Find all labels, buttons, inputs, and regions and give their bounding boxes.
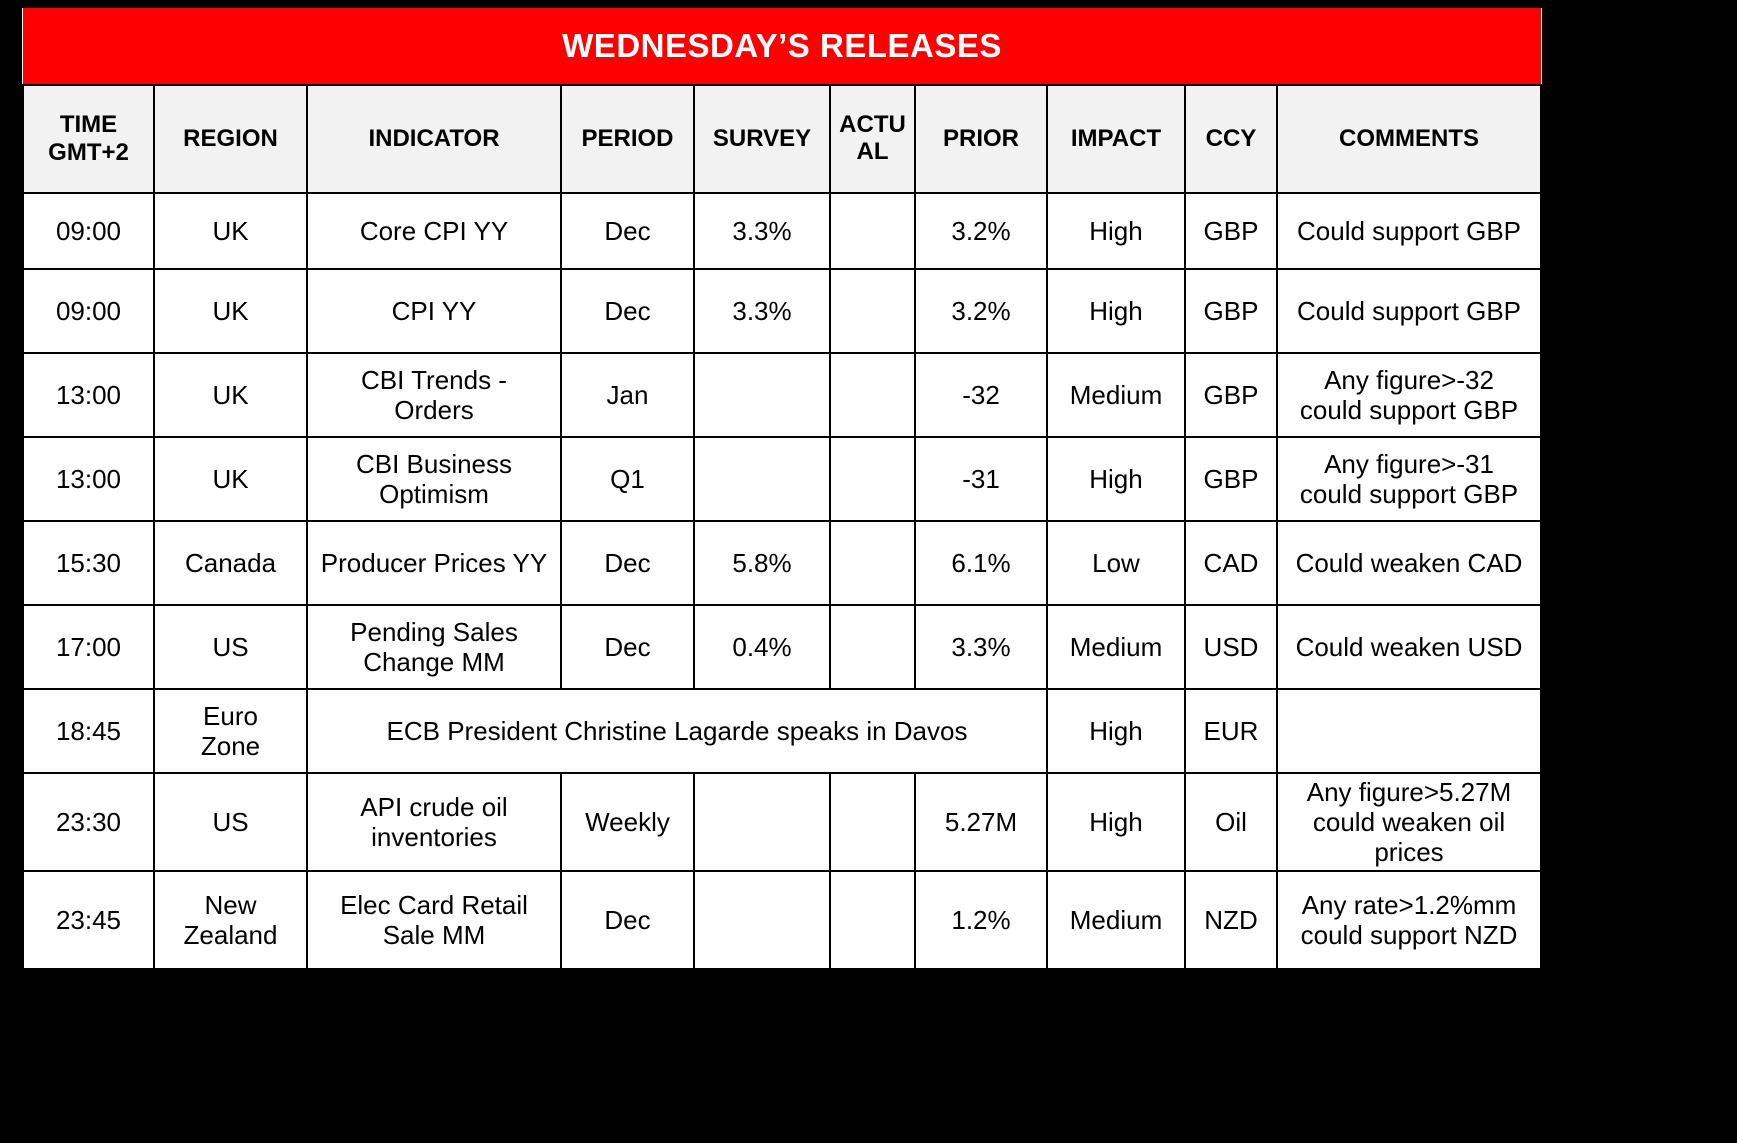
- cell-indicator: Pending Sales Change MM: [307, 605, 561, 689]
- cell-text-comments: Could weaken CAD: [1282, 548, 1536, 578]
- cell-text-ccy: USD: [1190, 632, 1272, 662]
- cell-text-survey: 5.8%: [699, 548, 825, 578]
- column-header-actual: ACTUAL: [830, 85, 915, 193]
- cell-text-region: UK: [159, 216, 302, 246]
- cell-prior: 1.2%: [915, 871, 1047, 969]
- cell-time: 17:00: [23, 605, 154, 689]
- cell-time: 15:30: [23, 521, 154, 605]
- cell-text-period: Dec: [566, 548, 689, 578]
- cell-period: Dec: [561, 605, 694, 689]
- cell-text-prior: 3.3%: [920, 632, 1042, 662]
- cell-text-comments: Any figure>-32 could support GBP: [1282, 365, 1536, 425]
- cell-impact: High: [1047, 689, 1185, 773]
- cell-text-period: Weekly: [566, 807, 689, 837]
- cell-region: New Zealand: [154, 871, 307, 969]
- cell-text-ccy: GBP: [1190, 216, 1272, 246]
- cell-text-survey: 0.4%: [699, 632, 825, 662]
- cell-survey: [694, 437, 830, 521]
- cell-text-region: Canada: [159, 548, 302, 578]
- cell-text-impact: High: [1052, 216, 1180, 246]
- cell-text-region: UK: [159, 296, 302, 326]
- cell-text-ccy: EUR: [1190, 716, 1272, 746]
- table-row: 13:00UKCBI Trends - OrdersJan-32MediumGB…: [23, 353, 1541, 437]
- cell-text-comments: Could support GBP: [1282, 296, 1536, 326]
- cell-comments: Could support GBP: [1277, 269, 1541, 353]
- cell-impact: Low: [1047, 521, 1185, 605]
- cell-text-prior: 3.2%: [920, 216, 1042, 246]
- cell-comments: Could support GBP: [1277, 193, 1541, 269]
- cell-text-ccy: GBP: [1190, 380, 1272, 410]
- cell-text-time: 17:00: [28, 632, 149, 662]
- cell-text-region: UK: [159, 464, 302, 494]
- cell-ccy: GBP: [1185, 269, 1277, 353]
- cell-survey: [694, 773, 830, 871]
- cell-text-impact: High: [1052, 464, 1180, 494]
- cell-comments: Any rate>1.2%mm could support NZD: [1277, 871, 1541, 969]
- cell-survey: [694, 871, 830, 969]
- cell-text-period: Dec: [566, 632, 689, 662]
- cell-text-comments: Could support GBP: [1282, 216, 1536, 246]
- cell-text-comments: Any figure>5.27M could weaken oil prices: [1282, 777, 1536, 867]
- cell-region: UK: [154, 353, 307, 437]
- page-root: WEDNESDAY’S RELEASES TIME GMT+2 REGION I…: [0, 0, 1737, 1143]
- cell-ccy: CAD: [1185, 521, 1277, 605]
- cell-comments: [1277, 689, 1541, 773]
- cell-text-region: UK: [159, 380, 302, 410]
- cell-text-indicator: Producer Prices YY: [312, 548, 556, 578]
- cell-period: Dec: [561, 521, 694, 605]
- cell-text-time: 09:00: [28, 296, 149, 326]
- cell-comments: Any figure>-31 could support GBP: [1277, 437, 1541, 521]
- cell-region: US: [154, 773, 307, 871]
- cell-impact: Medium: [1047, 871, 1185, 969]
- cell-impact: High: [1047, 193, 1185, 269]
- cell-text-impact: Medium: [1052, 380, 1180, 410]
- cell-text-period: Dec: [566, 216, 689, 246]
- cell-actual: [830, 437, 915, 521]
- cell-ccy: NZD: [1185, 871, 1277, 969]
- cell-region: UK: [154, 437, 307, 521]
- cell-text-prior: 3.2%: [920, 296, 1042, 326]
- cell-prior: 3.2%: [915, 269, 1047, 353]
- table-header-row: TIME GMT+2 REGION INDICATOR PERIOD SURVE…: [23, 85, 1541, 193]
- cell-text-event: ECB President Christine Lagarde speaks i…: [312, 716, 1042, 746]
- table-row: 17:00USPending Sales Change MMDec0.4%3.3…: [23, 605, 1541, 689]
- cell-survey: 0.4%: [694, 605, 830, 689]
- cell-text-ccy: Oil: [1190, 807, 1272, 837]
- column-header-prior: PRIOR: [915, 85, 1047, 193]
- cell-ccy: GBP: [1185, 353, 1277, 437]
- cell-text-time: 15:30: [28, 548, 149, 578]
- cell-time: 23:30: [23, 773, 154, 871]
- cell-text-comments: Any rate>1.2%mm could support NZD: [1282, 890, 1536, 950]
- page-title: WEDNESDAY’S RELEASES: [23, 8, 1541, 85]
- cell-period: Dec: [561, 871, 694, 969]
- cell-time: 23:45: [23, 871, 154, 969]
- cell-text-survey: 3.3%: [699, 216, 825, 246]
- cell-text-indicator: API crude oil inventories: [312, 792, 556, 852]
- cell-ccy: Oil: [1185, 773, 1277, 871]
- table-row: 23:45New ZealandElec Card Retail Sale MM…: [23, 871, 1541, 969]
- column-header-indicator: INDICATOR: [307, 85, 561, 193]
- cell-time: 09:00: [23, 269, 154, 353]
- cell-text-prior: 1.2%: [920, 905, 1042, 935]
- cell-prior: -32: [915, 353, 1047, 437]
- cell-survey: 5.8%: [694, 521, 830, 605]
- cell-region: UK: [154, 269, 307, 353]
- cell-text-ccy: NZD: [1190, 905, 1272, 935]
- cell-period: Dec: [561, 269, 694, 353]
- cell-impact: High: [1047, 773, 1185, 871]
- cell-period: Q1: [561, 437, 694, 521]
- cell-indicator: Producer Prices YY: [307, 521, 561, 605]
- cell-text-region: New Zealand: [159, 890, 302, 950]
- cell-text-comments: Any figure>-31 could support GBP: [1282, 449, 1536, 509]
- releases-table: WEDNESDAY’S RELEASES TIME GMT+2 REGION I…: [22, 8, 1542, 970]
- cell-text-time: 13:00: [28, 464, 149, 494]
- table-body: 09:00UKCore CPI YYDec3.3%3.2%HighGBPCoul…: [23, 193, 1541, 969]
- cell-text-impact: Medium: [1052, 905, 1180, 935]
- column-header-comments: COMMENTS: [1277, 85, 1541, 193]
- cell-text-time: 23:45: [28, 905, 149, 935]
- cell-text-time: 13:00: [28, 380, 149, 410]
- cell-text-indicator: Pending Sales Change MM: [312, 617, 556, 677]
- cell-text-period: Jan: [566, 380, 689, 410]
- cell-text-survey: 3.3%: [699, 296, 825, 326]
- cell-text-impact: High: [1052, 296, 1180, 326]
- cell-text-region: Euro Zone: [159, 701, 302, 761]
- cell-text-prior: -32: [920, 380, 1042, 410]
- cell-text-comments: Could weaken USD: [1282, 632, 1536, 662]
- cell-event: ECB President Christine Lagarde speaks i…: [307, 689, 1047, 773]
- cell-actual: [830, 269, 915, 353]
- cell-region: Canada: [154, 521, 307, 605]
- column-header-period: PERIOD: [561, 85, 694, 193]
- cell-region: US: [154, 605, 307, 689]
- cell-prior: 3.2%: [915, 193, 1047, 269]
- cell-prior: 5.27M: [915, 773, 1047, 871]
- table-title-row: WEDNESDAY’S RELEASES: [23, 8, 1541, 85]
- column-header-ccy: CCY: [1185, 85, 1277, 193]
- column-header-impact: IMPACT: [1047, 85, 1185, 193]
- column-header-time: TIME GMT+2: [23, 85, 154, 193]
- cell-time: 13:00: [23, 353, 154, 437]
- cell-comments: Could weaken CAD: [1277, 521, 1541, 605]
- cell-text-prior: 6.1%: [920, 548, 1042, 578]
- cell-ccy: EUR: [1185, 689, 1277, 773]
- cell-survey: 3.3%: [694, 193, 830, 269]
- cell-text-prior: -31: [920, 464, 1042, 494]
- cell-actual: [830, 353, 915, 437]
- cell-ccy: USD: [1185, 605, 1277, 689]
- cell-text-impact: Low: [1052, 548, 1180, 578]
- cell-text-indicator: CBI Business Optimism: [312, 449, 556, 509]
- cell-text-period: Q1: [566, 464, 689, 494]
- cell-text-impact: Medium: [1052, 632, 1180, 662]
- cell-indicator: Core CPI YY: [307, 193, 561, 269]
- cell-impact: Medium: [1047, 605, 1185, 689]
- cell-text-period: Dec: [566, 296, 689, 326]
- cell-text-period: Dec: [566, 905, 689, 935]
- cell-text-indicator: CBI Trends - Orders: [312, 365, 556, 425]
- cell-region: Euro Zone: [154, 689, 307, 773]
- cell-text-region: US: [159, 632, 302, 662]
- cell-actual: [830, 871, 915, 969]
- economic-calendar: WEDNESDAY’S RELEASES TIME GMT+2 REGION I…: [22, 8, 1540, 970]
- column-header-region: REGION: [154, 85, 307, 193]
- column-header-survey: SURVEY: [694, 85, 830, 193]
- cell-impact: High: [1047, 269, 1185, 353]
- cell-period: Dec: [561, 193, 694, 269]
- cell-text-region: US: [159, 807, 302, 837]
- table-row: 09:00UKCore CPI YYDec3.3%3.2%HighGBPCoul…: [23, 193, 1541, 269]
- cell-time: 13:00: [23, 437, 154, 521]
- table-row: 23:30USAPI crude oil inventoriesWeekly5.…: [23, 773, 1541, 871]
- cell-text-time: 18:45: [28, 716, 149, 746]
- cell-text-ccy: GBP: [1190, 464, 1272, 494]
- cell-indicator: CPI YY: [307, 269, 561, 353]
- cell-text-time: 23:30: [28, 807, 149, 837]
- cell-prior: -31: [915, 437, 1047, 521]
- cell-text-indicator: Core CPI YY: [312, 216, 556, 246]
- cell-text-ccy: GBP: [1190, 296, 1272, 326]
- cell-survey: [694, 353, 830, 437]
- cell-text-prior: 5.27M: [920, 807, 1042, 837]
- cell-comments: Any figure>5.27M could weaken oil prices: [1277, 773, 1541, 871]
- cell-region: UK: [154, 193, 307, 269]
- cell-ccy: GBP: [1185, 437, 1277, 521]
- table-row: 18:45Euro ZoneECB President Christine La…: [23, 689, 1541, 773]
- cell-period: Jan: [561, 353, 694, 437]
- cell-impact: Medium: [1047, 353, 1185, 437]
- cell-prior: 3.3%: [915, 605, 1047, 689]
- cell-impact: High: [1047, 437, 1185, 521]
- cell-actual: [830, 773, 915, 871]
- cell-actual: [830, 605, 915, 689]
- cell-indicator: API crude oil inventories: [307, 773, 561, 871]
- table-row: 09:00UKCPI YYDec3.3%3.2%HighGBPCould sup…: [23, 269, 1541, 353]
- cell-survey: 3.3%: [694, 269, 830, 353]
- cell-actual: [830, 521, 915, 605]
- cell-text-indicator: Elec Card Retail Sale MM: [312, 890, 556, 950]
- cell-time: 18:45: [23, 689, 154, 773]
- cell-actual: [830, 193, 915, 269]
- cell-text-impact: High: [1052, 807, 1180, 837]
- cell-text-indicator: CPI YY: [312, 296, 556, 326]
- cell-indicator: CBI Trends - Orders: [307, 353, 561, 437]
- cell-comments: Could weaken USD: [1277, 605, 1541, 689]
- cell-time: 09:00: [23, 193, 154, 269]
- cell-comments: Any figure>-32 could support GBP: [1277, 353, 1541, 437]
- cell-indicator: CBI Business Optimism: [307, 437, 561, 521]
- cell-text-ccy: CAD: [1190, 548, 1272, 578]
- cell-indicator: Elec Card Retail Sale MM: [307, 871, 561, 969]
- cell-period: Weekly: [561, 773, 694, 871]
- cell-prior: 6.1%: [915, 521, 1047, 605]
- table-row: 13:00UKCBI Business OptimismQ1-31HighGBP…: [23, 437, 1541, 521]
- cell-text-impact: High: [1052, 716, 1180, 746]
- table-row: 15:30CanadaProducer Prices YYDec5.8%6.1%…: [23, 521, 1541, 605]
- cell-text-time: 09:00: [28, 216, 149, 246]
- cell-ccy: GBP: [1185, 193, 1277, 269]
